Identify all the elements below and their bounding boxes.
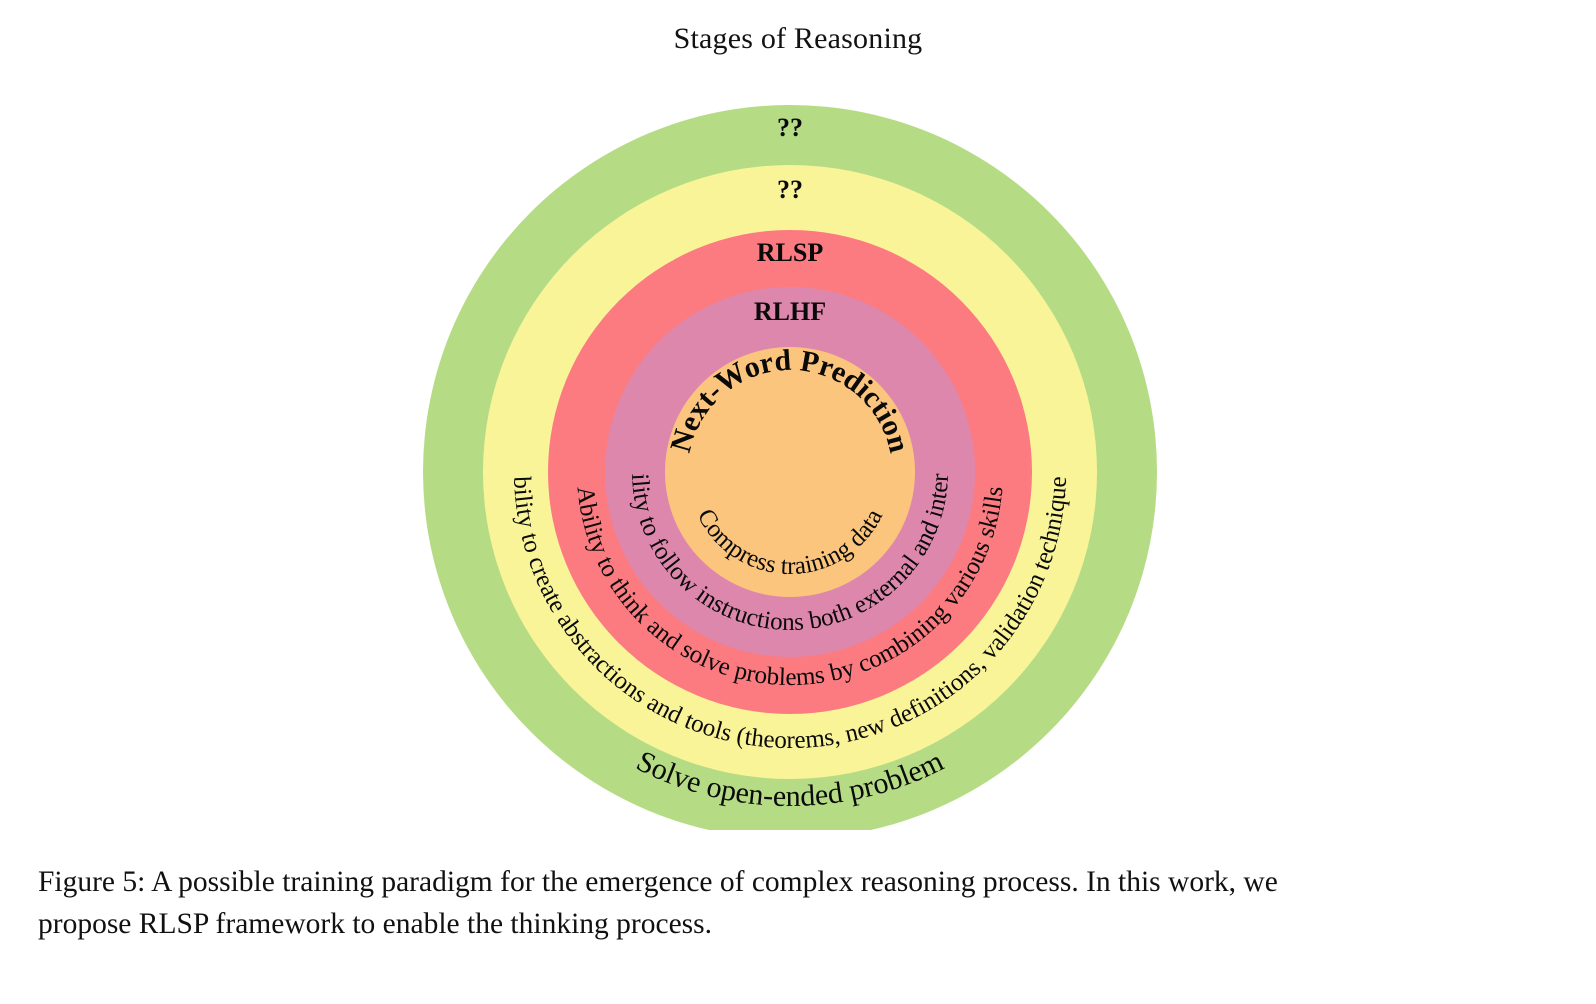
- stage-label-second: ??: [777, 175, 803, 204]
- stage-label-outermost: ??: [777, 113, 803, 142]
- figure-caption-line-2: propose RLSP framework to enable the thi…: [38, 904, 1558, 946]
- stage-label-fourth: RLHF: [754, 297, 826, 326]
- figure-caption-line-1: Figure 5: A possible training paradigm f…: [38, 862, 1558, 904]
- figure-caption: Figure 5: A possible training paradigm f…: [38, 862, 1558, 946]
- page-title: Stages of Reasoning: [0, 22, 1596, 56]
- figure-page: Stages of Reasoning ?? ?? RLSP RLHF Next…: [0, 0, 1596, 1004]
- stage-label-third: RLSP: [757, 238, 824, 267]
- concentric-rings-diagram: ?? ?? RLSP RLHF Next-Word Prediction Com…: [0, 70, 1596, 830]
